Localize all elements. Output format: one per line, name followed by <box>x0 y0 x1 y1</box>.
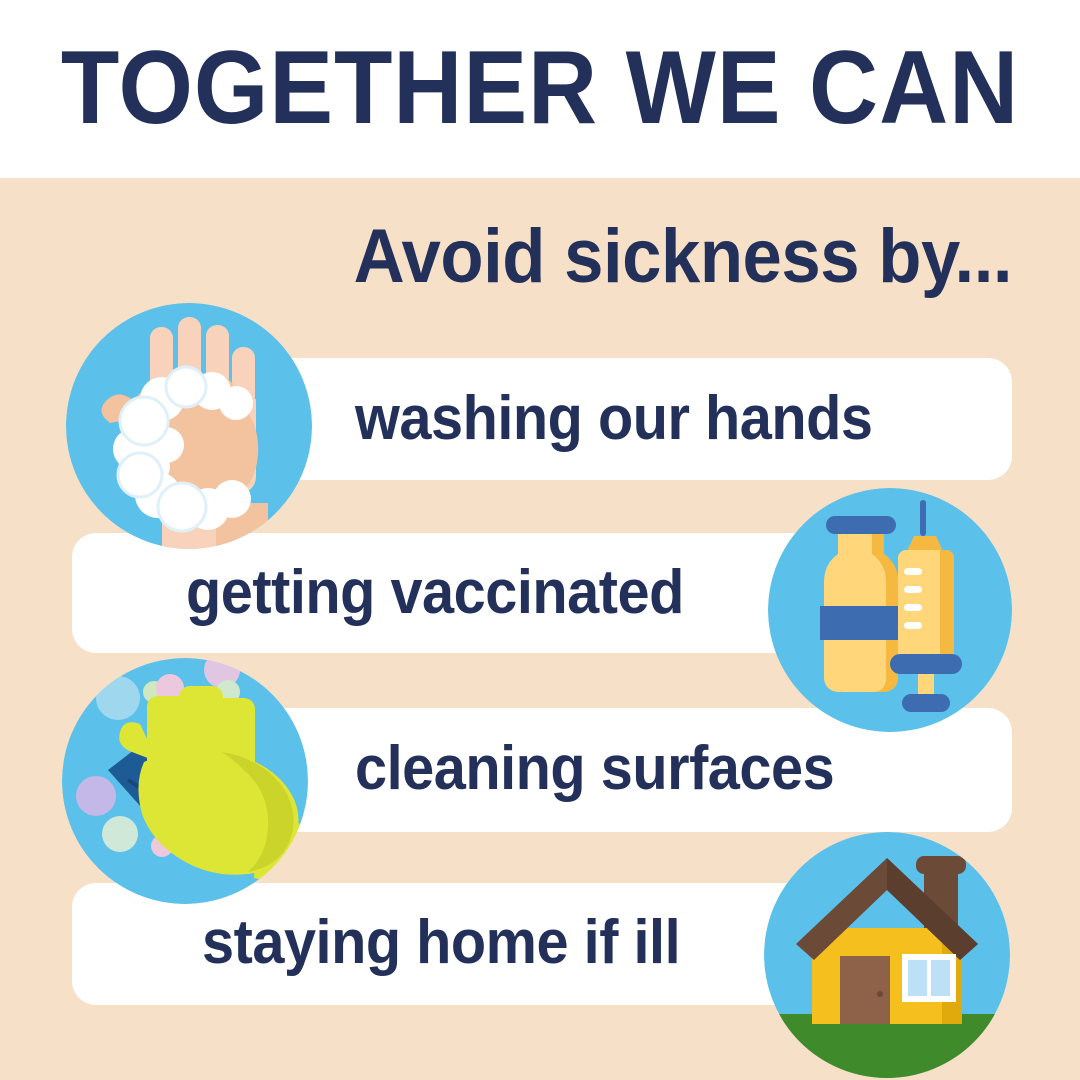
vaccine-bottle-syringe-icon <box>768 488 1012 732</box>
poster-canvas: TOGETHER WE CAN Avoid sickness by... was… <box>0 0 1080 1080</box>
list-item-label-cleaning: cleaning surfaces <box>355 738 834 800</box>
gloved-hand-sponge-icon <box>62 658 308 904</box>
house-icon <box>764 832 1010 1078</box>
hand-washing-icon <box>66 303 312 549</box>
list-item-label-vaccinated: getting vaccinated <box>186 562 684 624</box>
page-title: TOGETHER WE CAN <box>43 36 1037 140</box>
list-item-label-washing: washing our hands <box>355 388 872 450</box>
header-band: TOGETHER WE CAN <box>0 0 1080 178</box>
subtitle: Avoid sickness by... <box>353 214 1012 300</box>
list-item-label-staying-home: staying home if ill <box>202 912 680 974</box>
